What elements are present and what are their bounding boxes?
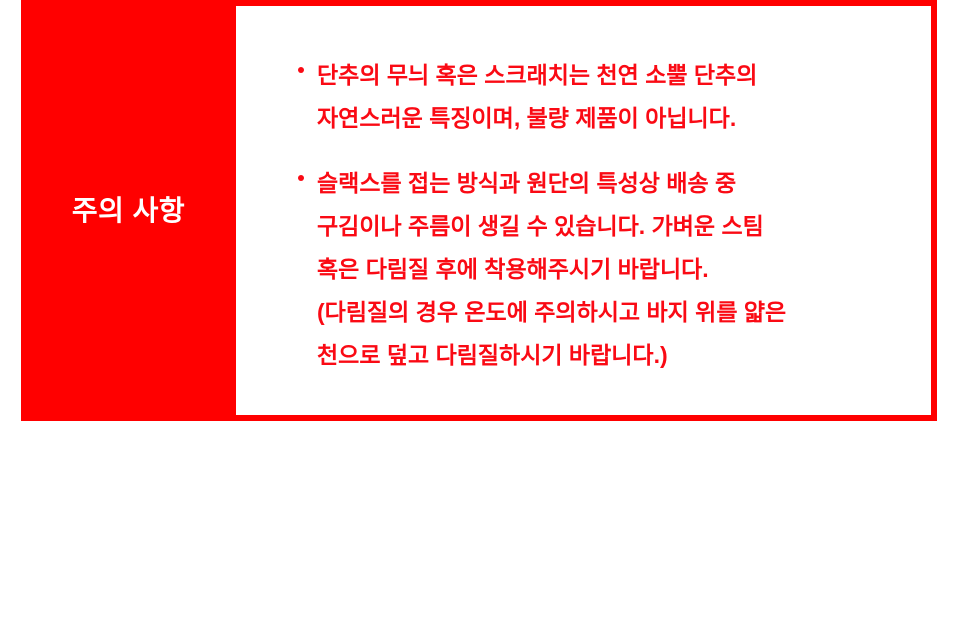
notice-text-line: 구김이나 주름이 생길 수 있습니다. 가벼운 스팀: [317, 205, 931, 248]
notice-card: 주의 사항 단추의 무늬 혹은 스크래치는 천연 소뿔 단추의 자연스러운 특징…: [21, 0, 937, 421]
page-canvas: 주의 사항 단추의 무늬 혹은 스크래치는 천연 소뿔 단추의 자연스러운 특징…: [0, 0, 960, 624]
dot-bullet-icon: [298, 175, 304, 181]
notice-text-line: 혹은 다림질 후에 착용해주시기 바랍니다.: [317, 248, 931, 291]
notice-list: 단추의 무늬 혹은 스크래치는 천연 소뿔 단추의 자연스러운 특징이며, 불량…: [298, 54, 931, 377]
notice-text-line: 단추의 무늬 혹은 스크래치는 천연 소뿔 단추의: [317, 54, 931, 97]
notice-text-line: 슬랙스를 접는 방식과 원단의 특성상 배송 중: [317, 162, 931, 205]
notice-body-panel: 단추의 무늬 혹은 스크래치는 천연 소뿔 단추의 자연스러운 특징이며, 불량…: [236, 0, 937, 421]
list-item: 슬랙스를 접는 방식과 원단의 특성상 배송 중 구김이나 주름이 생길 수 있…: [298, 162, 931, 377]
notice-label-block: 주의 사항: [21, 0, 236, 421]
notice-label-title: 주의 사항: [72, 194, 185, 228]
notice-text-line: 천으로 덮고 다림질하시기 바랍니다.): [317, 334, 931, 377]
dot-bullet-icon: [298, 67, 304, 73]
notice-text-line: (다림질의 경우 온도에 주의하시고 바지 위를 얇은: [317, 291, 931, 334]
notice-text-line: 자연스러운 특징이며, 불량 제품이 아닙니다.: [317, 97, 931, 140]
list-item: 단추의 무늬 혹은 스크래치는 천연 소뿔 단추의 자연스러운 특징이며, 불량…: [298, 54, 931, 140]
